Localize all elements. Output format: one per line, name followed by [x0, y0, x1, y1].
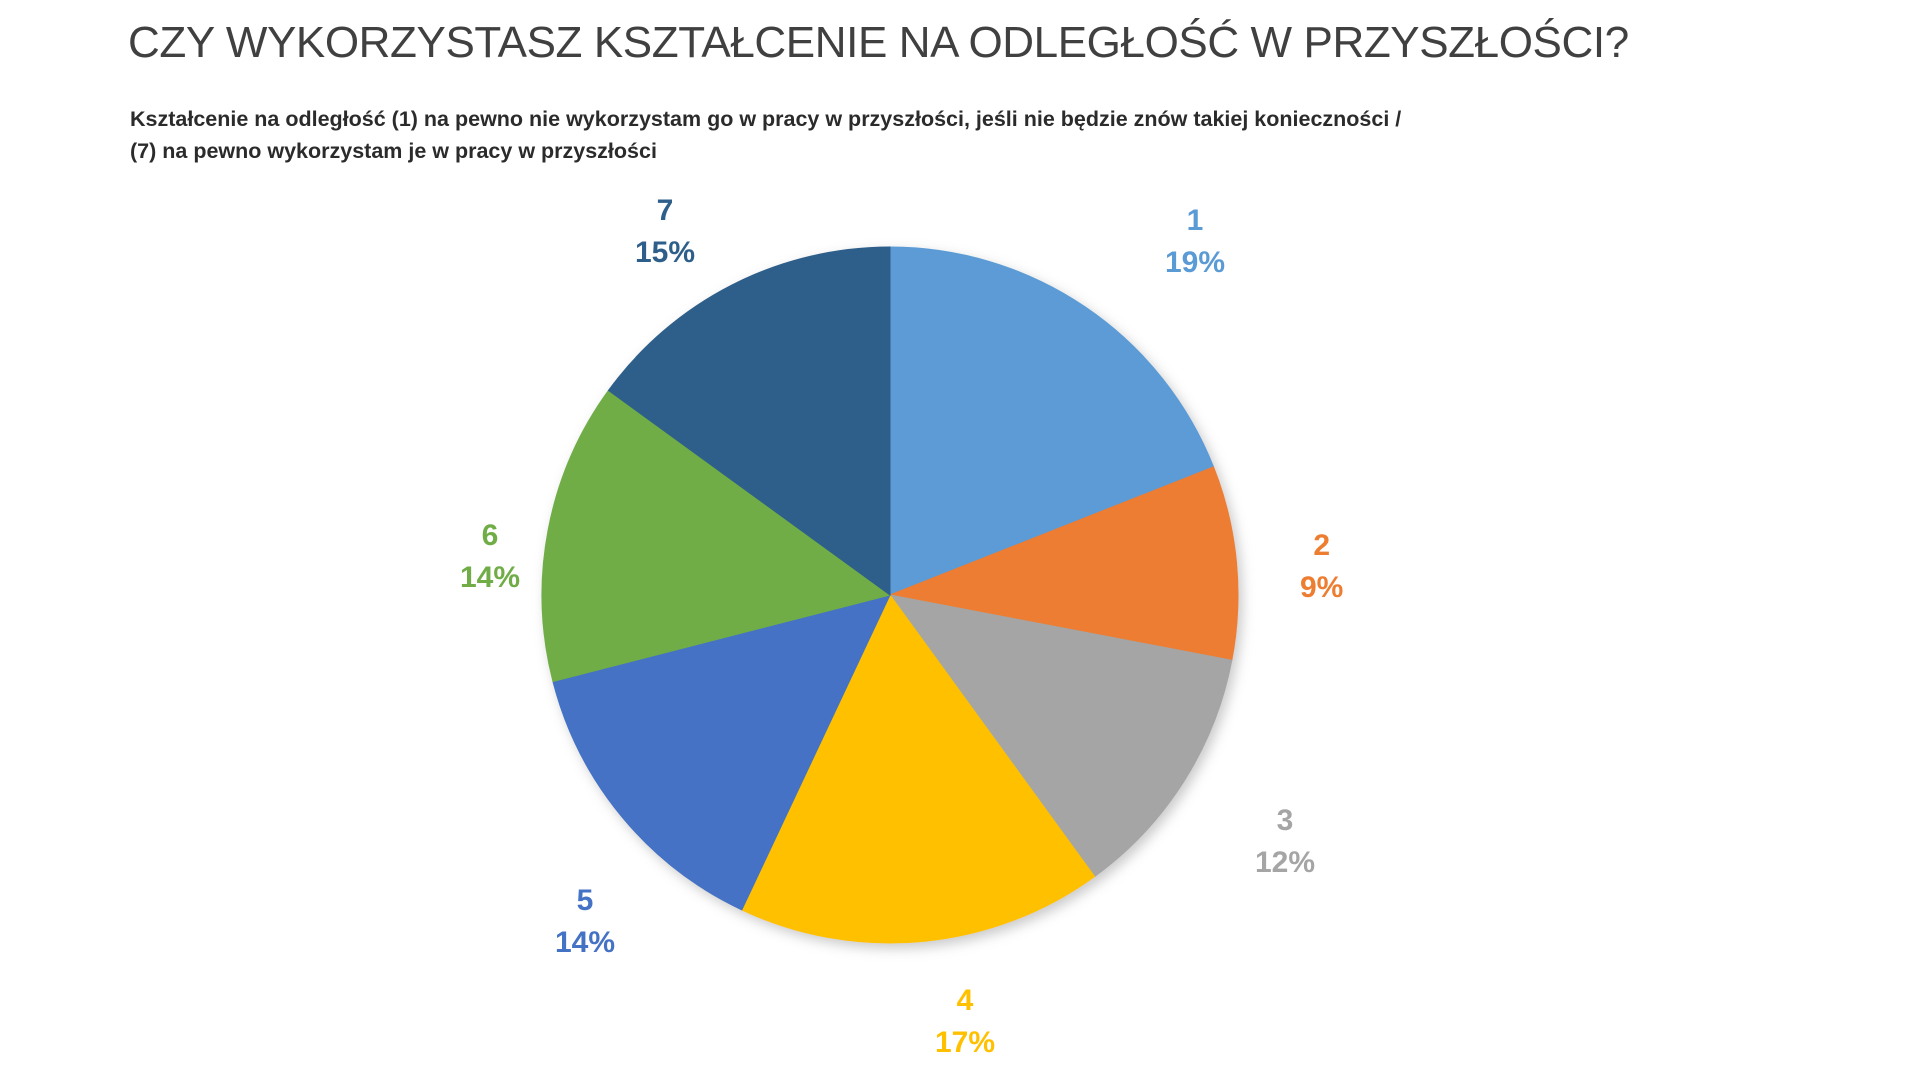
pie-label-name-2: 2 [1300, 525, 1343, 567]
pie-label-value-6: 14% [460, 557, 520, 599]
pie-chart-figure: CZY WYKORZYSTASZ KSZTAŁCENIE NA ODLEGŁOŚ… [0, 0, 1920, 1080]
pie-label-2: 29% [1300, 525, 1343, 609]
pie-label-value-7: 15% [635, 232, 695, 274]
pie-label-name-4: 4 [935, 980, 995, 1022]
chart-subtitle-line-2: (7) na pewno wykorzystam je w pracy w pr… [130, 135, 1770, 167]
pie-plot-area [540, 245, 1240, 945]
pie-label-name-1: 1 [1165, 200, 1225, 242]
pie-label-value-5: 14% [555, 922, 615, 964]
pie-label-1: 119% [1165, 200, 1225, 284]
pie-label-3: 312% [1255, 800, 1315, 884]
page-title: CZY WYKORZYSTASZ KSZTAŁCENIE NA ODLEGŁOŚ… [128, 18, 1828, 68]
chart-subtitle: Kształcenie na odległość (1) na pewno ni… [130, 103, 1770, 167]
pie-label-name-6: 6 [460, 515, 520, 557]
pie-label-value-3: 12% [1255, 842, 1315, 884]
pie-label-value-2: 9% [1300, 567, 1343, 609]
pie-label-4: 417% [935, 980, 995, 1064]
pie-label-value-1: 19% [1165, 242, 1225, 284]
pie-label-value-4: 17% [935, 1022, 995, 1064]
pie-svg [540, 245, 1240, 945]
pie-slice-group [542, 247, 1238, 943]
pie-label-name-7: 7 [635, 190, 695, 232]
pie-label-6: 614% [460, 515, 520, 599]
pie-label-name-3: 3 [1255, 800, 1315, 842]
pie-label-5: 514% [555, 880, 615, 964]
chart-subtitle-line-1: Kształcenie na odległość (1) na pewno ni… [130, 103, 1770, 135]
pie-label-7: 715% [635, 190, 695, 274]
pie-label-name-5: 5 [555, 880, 615, 922]
